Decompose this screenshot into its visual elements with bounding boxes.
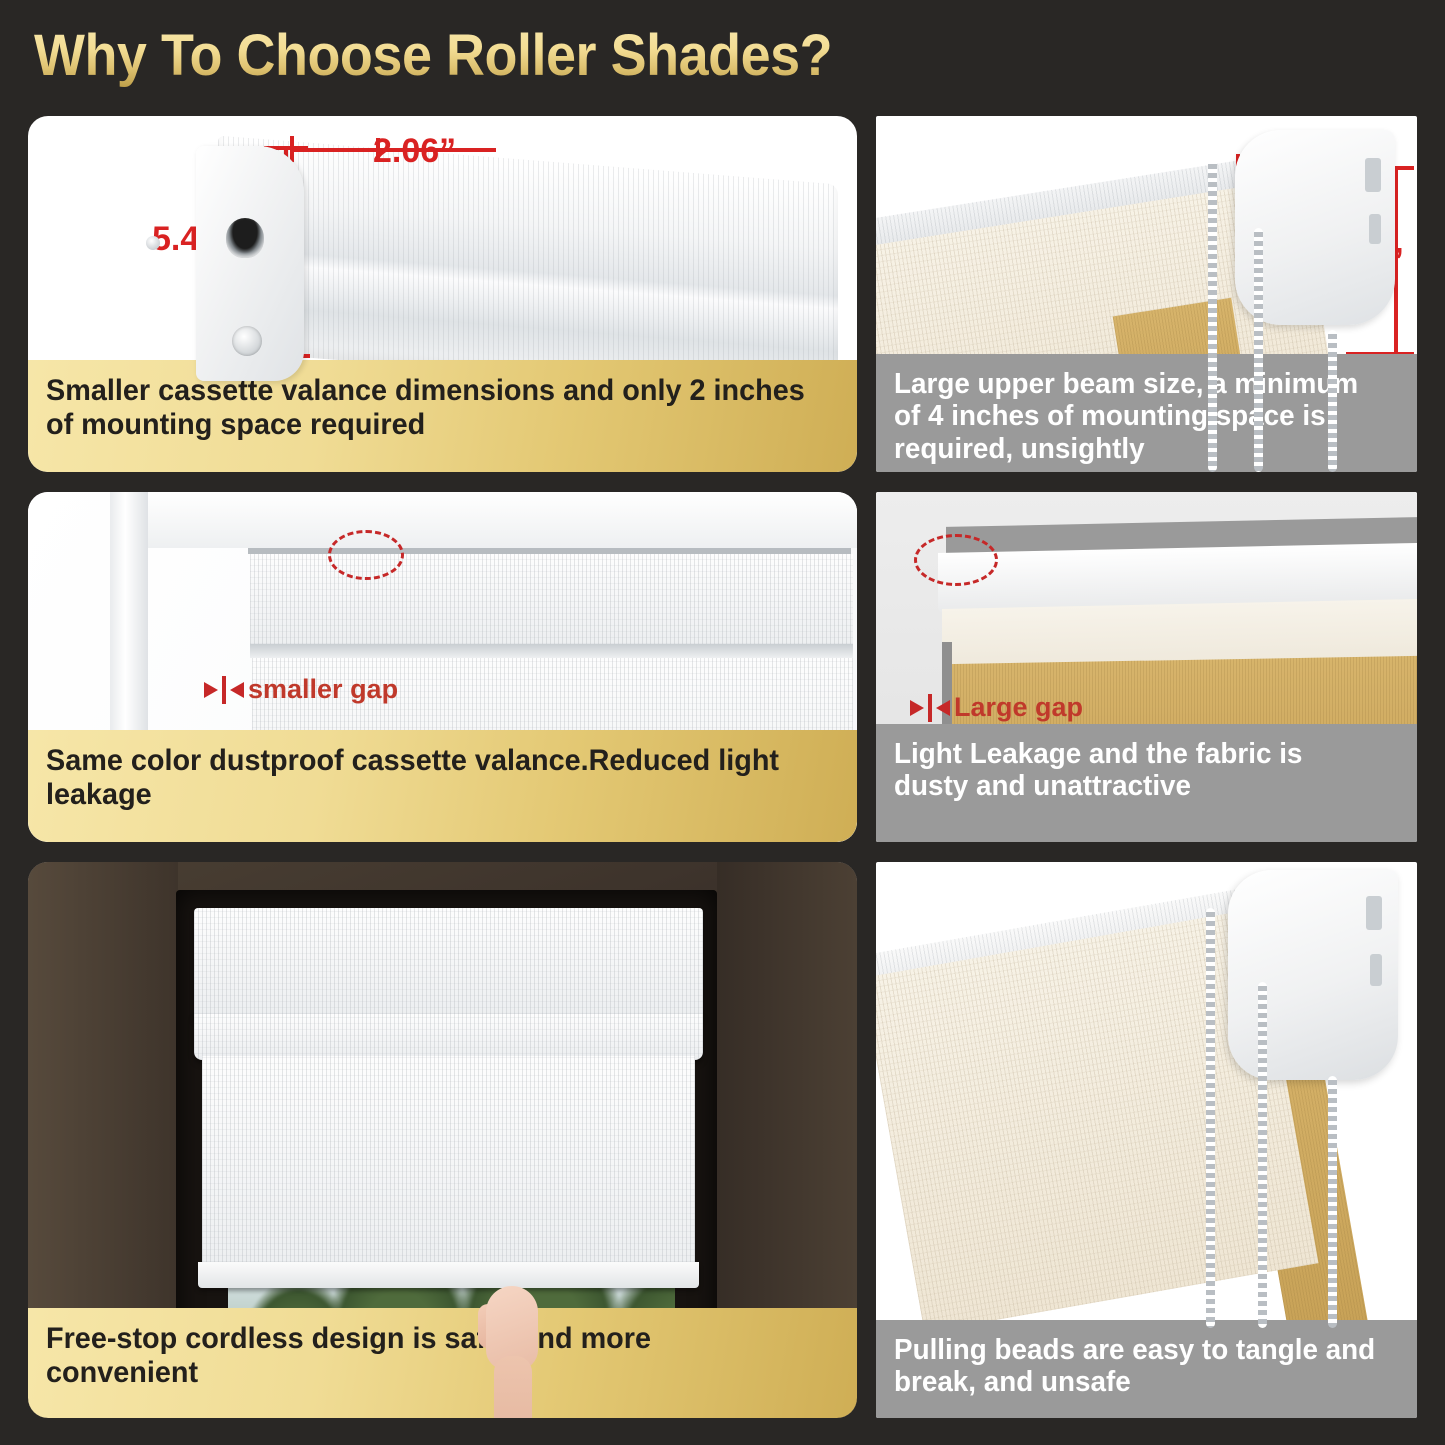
caption-bar-bad-2: Light Leakage and the fabric is dusty an… <box>876 724 1417 842</box>
caption-text: Large upper beam size, a minimum of 4 in… <box>894 368 1379 465</box>
shade-valance-lip <box>194 1014 703 1060</box>
gap-marker-bar <box>928 694 932 722</box>
caption-text: Smaller cassette valance dimensions and … <box>46 374 807 441</box>
valance-lip-shape <box>250 644 853 658</box>
gap-arrow-left-icon <box>936 700 950 716</box>
caption-bar-good-2: Same color dustproof cassette valance.Re… <box>28 730 857 842</box>
highlight-circle-icon <box>328 530 404 580</box>
shade-fabric <box>202 1056 695 1274</box>
bead-chain-tail <box>1328 330 1337 472</box>
gap-arrow-right-icon <box>910 700 924 716</box>
gap-label: Large gap <box>954 692 1083 723</box>
valance-screw-secondary <box>146 236 160 250</box>
large-gap-callout: Large gap <box>910 692 1083 723</box>
bead-chain-right <box>1328 1076 1337 1328</box>
infographic-page: Why To Choose Roller Shades? 2.06” 5.49”… <box>0 0 1445 1445</box>
comparison-card-bad-1: 4.00” 4.00” Large upper beam size, a min… <box>876 116 1417 472</box>
bead-chain-left <box>1208 160 1217 472</box>
gap-label: smaller gap <box>248 674 398 705</box>
small-gap-callout: smaller gap <box>204 674 398 705</box>
page-title: Why To Choose Roller Shades? <box>34 22 832 89</box>
bead-chain-middle <box>1258 982 1267 1328</box>
bracket-slot-top <box>1365 158 1381 192</box>
mounting-bracket-shape <box>1228 870 1398 1080</box>
bracket-slot-bottom <box>1369 214 1381 244</box>
valance-endcap-shape <box>196 146 304 381</box>
gap-marker-bar <box>222 676 226 704</box>
shade-valance <box>194 908 703 1020</box>
bead-chain-right <box>1254 228 1263 472</box>
comparison-card-good-2: smaller gap Same color dustproof cassett… <box>28 492 857 842</box>
valance-screw <box>232 326 262 356</box>
caption-text: Pulling beads are easy to tangle and bre… <box>894 1334 1379 1399</box>
bracket-slot-bottom <box>1370 954 1382 986</box>
caption-text: Free-stop cordless design is safer and m… <box>46 1322 807 1389</box>
comparison-card-good-3: Free-stop cordless design is safer and m… <box>28 862 857 1418</box>
caption-text: Same color dustproof cassette valance.Re… <box>46 744 807 811</box>
caption-bar-good-1: Smaller cassette valance dimensions and … <box>28 360 857 472</box>
caption-text: Light Leakage and the fabric is dusty an… <box>894 738 1379 803</box>
comparison-card-bad-3: Pulling beads are easy to tangle and bre… <box>876 862 1417 1418</box>
gap-arrow-right-icon <box>204 682 218 698</box>
shade-bottom-rail <box>198 1262 699 1288</box>
hand-arm <box>494 1356 532 1418</box>
valance-bracket-hole <box>226 218 264 258</box>
bracket-slot-top <box>1366 896 1382 930</box>
width-dimension-label: 2.06” <box>373 132 456 171</box>
gap-arrow-left-icon <box>230 682 244 698</box>
caption-bar-bad-3: Pulling beads are easy to tangle and bre… <box>876 1320 1417 1418</box>
comparison-card-bad-2: Large gap Light Leakage and the fabric i… <box>876 492 1417 842</box>
window-head-shape <box>110 492 857 548</box>
hand-shape <box>478 1278 548 1418</box>
comparison-card-good-1: 2.06” 5.49” Smaller cassette valance dim… <box>28 116 857 472</box>
highlight-circle-icon <box>914 534 998 586</box>
caption-bar-good-3: Free-stop cordless design is safer and m… <box>28 1308 857 1418</box>
bead-chain-left <box>1206 908 1215 1328</box>
